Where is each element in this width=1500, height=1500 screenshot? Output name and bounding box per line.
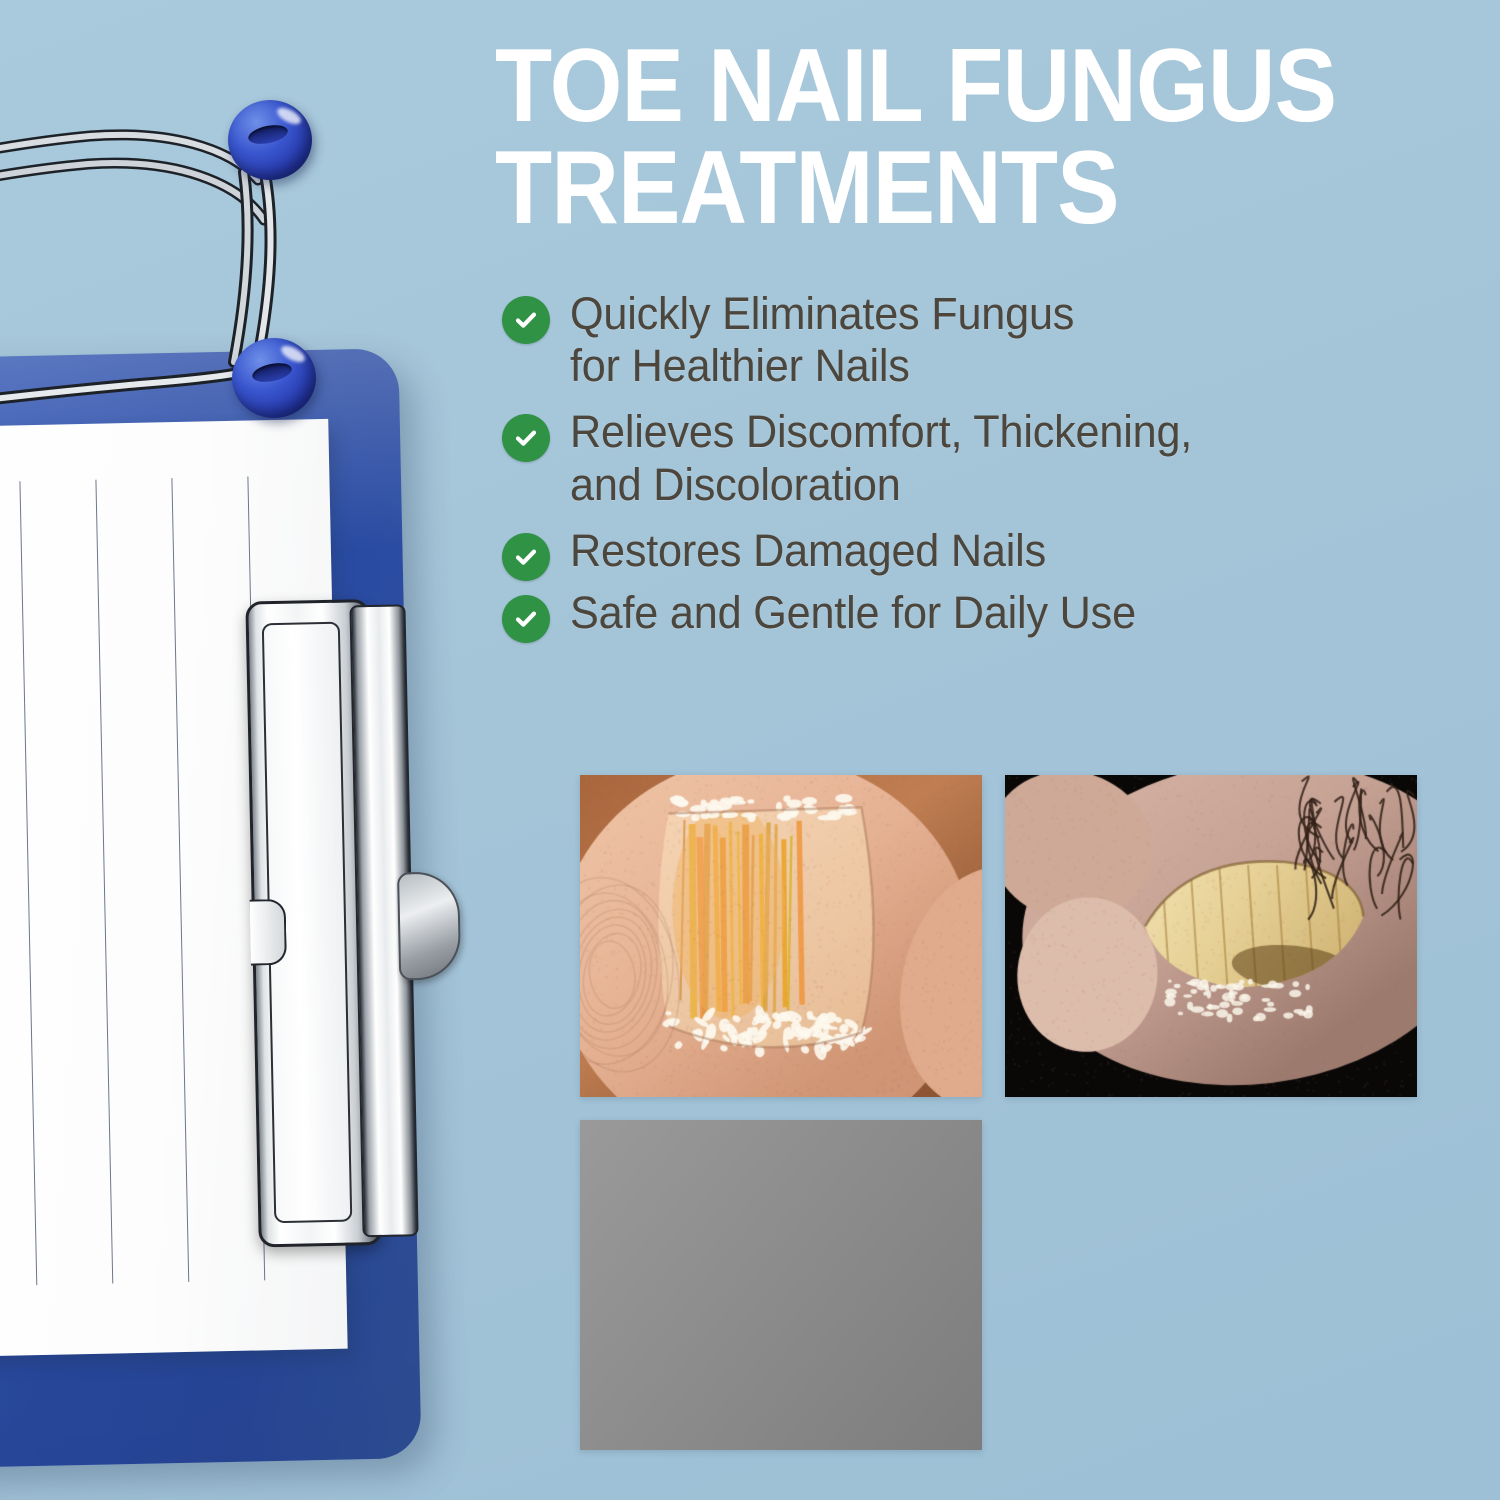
condition-photo-grid (580, 775, 1417, 1453)
photo-big-toe-yellow-streaked-nail-canvas (580, 775, 982, 1097)
stethoscope (0, 40, 400, 460)
clip-lever (397, 871, 461, 980)
promotional-product-image: TOE NAIL FUNGUS TREATMENTS Quickly Elimi… (0, 0, 1500, 1500)
photo-big-toe-yellow-streaked-nail (580, 775, 982, 1097)
benefit-bullet-2: Relieves Discomfort, Thickening, and Dis… (502, 406, 1482, 510)
check-circle-icon (502, 595, 550, 643)
check-circle-icon (502, 533, 550, 581)
photo-toe-thickened-yellow-nail-canvas (1005, 775, 1417, 1097)
paper-rule-line (171, 478, 189, 1282)
check-circle-icon (502, 296, 550, 344)
photo-toes-crumbling-nails-canvas (580, 1120, 982, 1450)
earpiece-hole (247, 122, 290, 147)
chrome-clipboard-clip (245, 598, 408, 1241)
stethoscope-earpiece-top (228, 100, 312, 180)
check-circle-icon (502, 414, 550, 462)
photo-toe-thickened-yellow-nail (1005, 775, 1417, 1097)
marketing-content-column: TOE NAIL FUNGUS TREATMENTS Quickly Elimi… (480, 0, 1500, 1500)
medical-props-scene (0, 0, 500, 1500)
stethoscope-tubing (0, 40, 400, 460)
benefit-bullet-label: Restores Damaged Nails (570, 525, 1046, 577)
earpiece-hole (251, 360, 294, 385)
benefit-bullet-label: Safe and Gentle for Daily Use (570, 587, 1136, 639)
benefit-bullet-list: Quickly Eliminates Fungus for Healthier … (502, 288, 1482, 657)
stethoscope-earpiece-bottom (232, 338, 316, 418)
benefit-bullet-label: Quickly Eliminates Fungus for Healthier … (570, 288, 1074, 392)
clip-notch (250, 899, 287, 966)
benefit-bullet-4: Safe and Gentle for Daily Use (502, 587, 1482, 643)
paper-rule-line (19, 481, 37, 1285)
paper-rule-line (95, 480, 113, 1284)
benefit-bullet-1: Quickly Eliminates Fungus for Healthier … (502, 288, 1482, 392)
photo-toes-crumbling-nails (580, 1120, 982, 1450)
page-title: TOE NAIL FUNGUS TREATMENTS (495, 36, 1395, 240)
benefit-bullet-label: Relieves Discomfort, Thickening, and Dis… (570, 406, 1192, 510)
benefit-bullet-3: Restores Damaged Nails (502, 525, 1482, 581)
